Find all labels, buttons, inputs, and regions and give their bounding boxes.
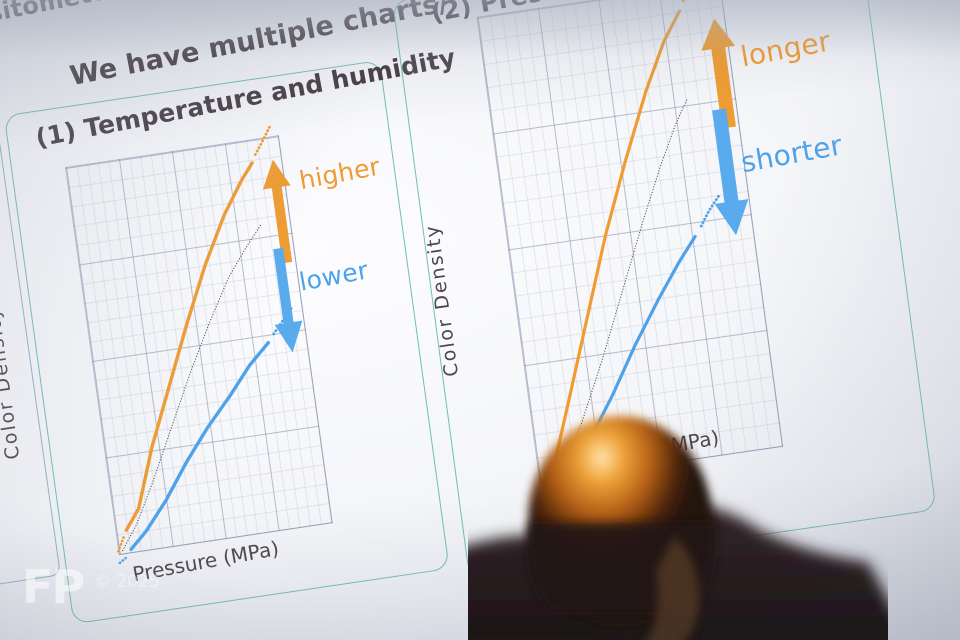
projection-screen: densitometer calibra We have multiple ch… <box>0 0 960 640</box>
photo-stage: densitometer calibra We have multiple ch… <box>0 0 960 640</box>
series-reference-line <box>511 100 734 475</box>
series-higher-extrapolation-low <box>116 534 127 551</box>
partial-text-densitometer: densitometer <box>0 0 122 38</box>
series-longer-extrapolation <box>679 0 705 1</box>
